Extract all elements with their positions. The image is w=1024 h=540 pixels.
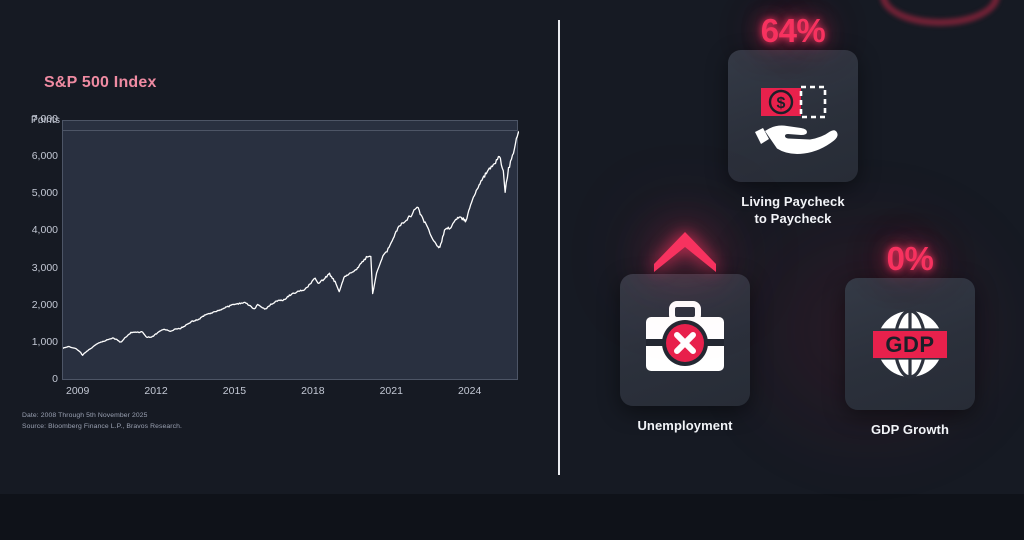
y-tick-label: 0: [6, 373, 58, 385]
globe-gdp-icon: GDP: [864, 298, 956, 390]
stat-value-gdp: 0%: [765, 240, 1024, 278]
svg-text:$: $: [777, 95, 786, 112]
footnote-source: Source: Bloomberg Finance L.P., Bravos R…: [22, 421, 182, 432]
x-tick-label: 2018: [301, 385, 324, 397]
x-tick-label: 2015: [223, 385, 246, 397]
x-tick-label: 2009: [66, 385, 89, 397]
y-tick-label: 6,000: [6, 150, 58, 162]
stat-label-gdp-line1: GDP Growth: [765, 421, 1024, 438]
briefcase-x-icon: [638, 293, 732, 387]
y-tick-label: 3,000: [6, 262, 58, 274]
stat-label-gdp: GDP Growth: [765, 421, 1024, 438]
up-chevron-icon: [650, 228, 720, 274]
stat-label-paycheck-line2: to Paycheck: [648, 210, 938, 227]
chart-panel: S&P 500 Index Points 01,0002,0003,0004,0…: [0, 0, 558, 494]
chart-title: S&P 500 Index: [44, 74, 157, 92]
svg-text:GDP: GDP: [885, 332, 934, 357]
chart-footnotes: Date: 2008 Through 5th November 2025 Sou…: [22, 410, 182, 432]
x-tick-label: 2012: [144, 385, 167, 397]
y-tick-label: 7,000: [6, 113, 58, 125]
x-axis-ticks: 200920122015201820212024: [62, 385, 518, 401]
y-tick-label: 1,000: [6, 336, 58, 348]
stat-label-paycheck-line1: Living Paycheck: [648, 193, 938, 210]
series-line-sp500: [63, 121, 519, 381]
stat-label-paycheck: Living Paycheck to Paycheck: [648, 193, 938, 228]
stat-tile-gdp: GDP: [845, 278, 975, 410]
stats-panel: 64% $ Living Paycheck to Paycheck: [560, 0, 1024, 494]
stat-living-paycheck-to-paycheck: 64% $ Living Paycheck to Paycheck: [648, 12, 938, 228]
y-tick-label: 4,000: [6, 224, 58, 236]
stat-gdp-growth: 0% GDP GDP Growth: [765, 240, 1024, 438]
x-tick-label: 2021: [380, 385, 403, 397]
y-tick-label: 5,000: [6, 187, 58, 199]
footnote-date: Date: 2008 Through 5th November 2025: [22, 410, 182, 421]
stat-tile-paycheck: $: [728, 50, 858, 182]
stat-tile-unemployment: [620, 274, 750, 406]
hand-holding-money-icon: $: [747, 70, 839, 162]
y-tick-label: 2,000: [6, 299, 58, 311]
plot-area: [62, 120, 518, 380]
stat-value-paycheck: 64%: [648, 12, 938, 50]
x-tick-label: 2024: [458, 385, 481, 397]
